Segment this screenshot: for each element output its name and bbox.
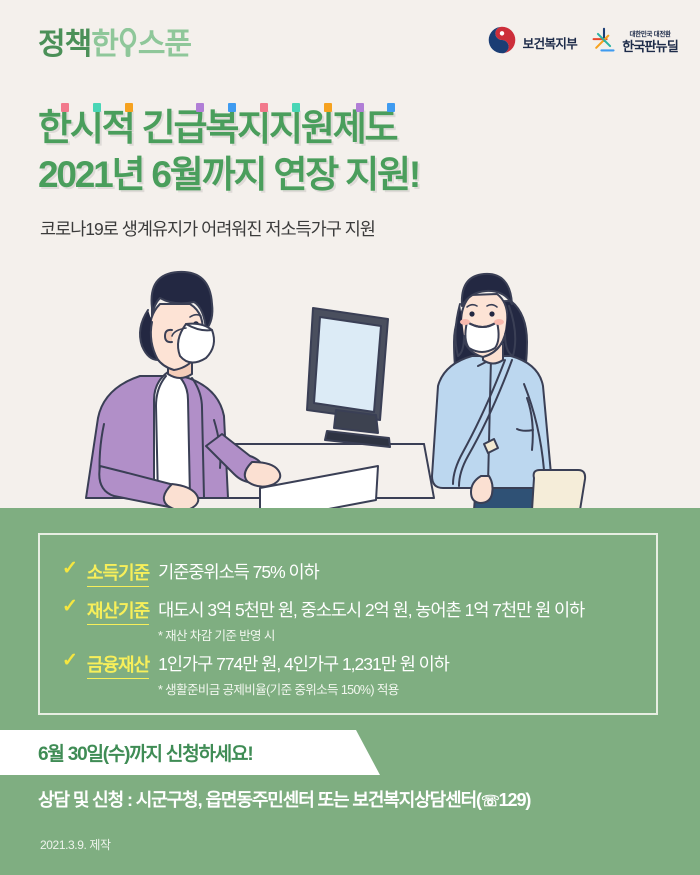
deadline-text: 6월 30일(수)까지 신청하세요! [38, 739, 252, 766]
brand-text-policy: 정책 [38, 28, 91, 61]
criteria-label-assets: 재산기준 [87, 597, 149, 625]
headline-subtitle: 코로나19로 생계유지가 어려워진 저소득가구 지원 [40, 216, 375, 241]
illustration [0, 248, 700, 510]
korean-new-deal-logo: 대한민국 대전환 한국판뉴딜 [591, 27, 678, 58]
contact-text: 상담 및 신청 : 시군구청, 읍면동주민센터 또는 보건복지상담센터( [38, 790, 481, 810]
ministry-of-health-logo: 보건복지부 [488, 26, 578, 59]
brand-logo: 정책한 스푼 [38, 28, 191, 60]
newdeal-tagline: 대한민국 대전환 [629, 32, 670, 39]
contact-line: 상담 및 신청 : 시군구청, 읍면동주민센터 또는 보건복지상담센터(☏129… [38, 786, 530, 812]
criteria-note-financial: * 생활준비금 공제비율(기준 중위소득 150%) 적용 [158, 679, 399, 698]
green-info-band: ✓ 소득기준 기준중위소득 75% 이하 ✓ 재산기준 대도시 3억 5천만 원… [0, 508, 700, 875]
contact-text-end: ) [525, 790, 530, 810]
eligibility-criteria-box: ✓ 소득기준 기준중위소득 75% 이하 ✓ 재산기준 대도시 3억 5천만 원… [38, 533, 658, 715]
telephone-icon: ☏ [481, 793, 499, 810]
headline-line-2: 2021년 6월까지 연장 지원! [38, 151, 678, 198]
criteria-label-income: 소득기준 [87, 559, 149, 587]
government-logos: 보건복지부 대한민국 대전환 한국판뉴딜 [488, 26, 678, 59]
visitor-figure [432, 274, 585, 510]
criteria-value-financial: 1인가구 774만 원, 4인가구 1,231만 원 이하 [158, 651, 449, 676]
check-icon: ✓ [62, 597, 78, 616]
headline-line-1: 한시적 긴급복지지원제도 [38, 104, 678, 151]
taegeuk-icon [488, 26, 516, 59]
criteria-note-assets: * 재산 차감 기준 반영 시 [158, 625, 275, 644]
staff-figure [86, 272, 280, 510]
poster-header: 정책한 스푼 보건복지부 [0, 0, 700, 88]
deadline-ribbon: 6월 30일(수)까지 신청하세요! [0, 730, 380, 775]
check-icon: ✓ [62, 651, 78, 670]
ministry-name-label: 보건복지부 [523, 33, 578, 52]
criteria-value-income: 기준중위소득 75% 이하 [158, 559, 319, 584]
brand-text-han: 한 [91, 28, 118, 61]
brand-text-spoon: 스푼 [138, 28, 191, 61]
poster-root: 정책한 스푼 보건복지부 [0, 0, 700, 875]
criteria-row-income: ✓ 소득기준 기준중위소득 75% 이하 [62, 559, 319, 587]
spoon-icon [118, 28, 138, 60]
contact-phone-number: 129 [499, 790, 526, 810]
check-icon: ✓ [62, 559, 78, 578]
production-date: 2021.3.9. 제작 [40, 836, 111, 853]
korean-new-deal-text: 대한민국 대전환 한국판뉴딜 [622, 32, 678, 53]
criteria-row-financial: ✓ 금융재산 1인가구 774만 원, 4인가구 1,231만 원 이하 [62, 651, 449, 679]
newdeal-name-label: 한국판뉴딜 [622, 40, 678, 53]
criteria-value-assets: 대도시 3억 5천만 원, 중소도시 2억 원, 농어촌 1억 7천만 원 이하 [158, 597, 584, 622]
monitor [307, 308, 390, 447]
criteria-row-assets: ✓ 재산기준 대도시 3억 5천만 원, 중소도시 2억 원, 농어촌 1억 7… [62, 597, 584, 625]
headline-block: 한시적 긴급복지지원제도 2021년 6월까지 연장 지원! [38, 104, 678, 199]
criteria-label-financial: 금융재산 [87, 651, 149, 679]
korean-new-deal-star-icon [591, 27, 617, 58]
